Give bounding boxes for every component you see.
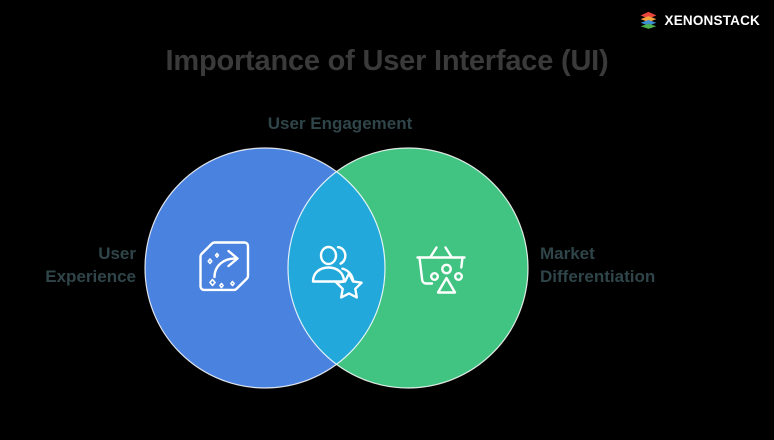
label-user-experience-line1: User bbox=[0, 243, 136, 266]
label-market-differentiation: Market Differentiation bbox=[540, 243, 760, 289]
venn-diagram bbox=[0, 0, 774, 440]
label-market-differentiation-line1: Market bbox=[540, 243, 760, 266]
label-user-experience: User Experience bbox=[0, 243, 136, 289]
label-market-differentiation-line2: Differentiation bbox=[540, 266, 760, 289]
label-user-experience-line2: Experience bbox=[0, 266, 136, 289]
label-user-engagement: User Engagement bbox=[0, 113, 680, 136]
slide-canvas: XENONSTACK Importance of User Interface … bbox=[0, 0, 774, 440]
